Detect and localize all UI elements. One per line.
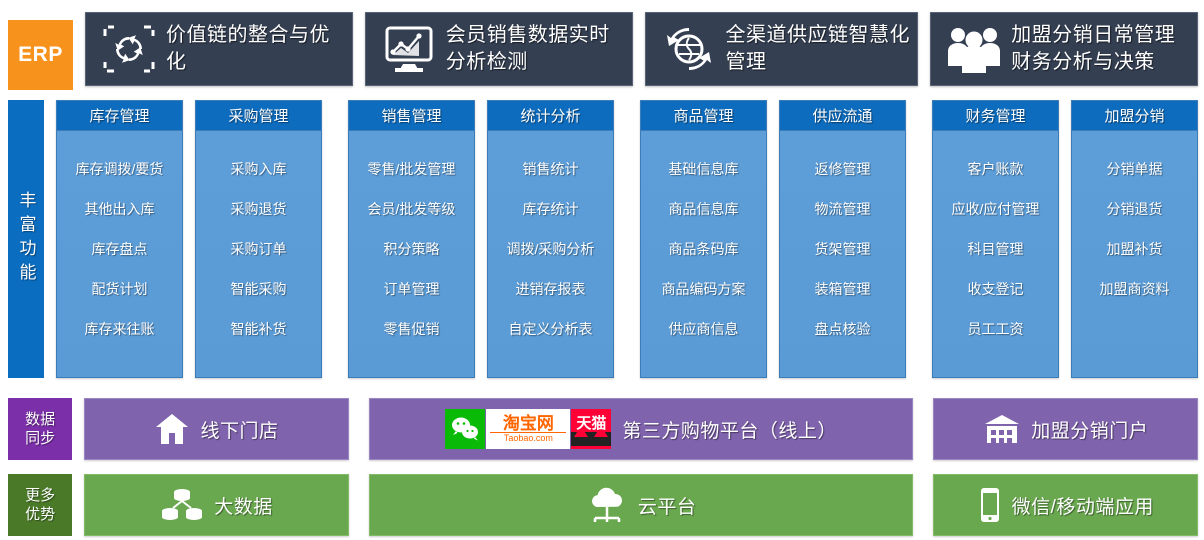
feature-column-statistics[interactable]: 统计分析 销售统计 库存统计 调拨/采购分析 进销存报表 自定义分析表 bbox=[487, 100, 614, 378]
feature-column-title: 供应流通 bbox=[780, 101, 905, 131]
feature-item[interactable]: 装箱管理 bbox=[815, 269, 871, 309]
feature-item[interactable]: 配货计划 bbox=[92, 269, 148, 309]
sync-bar-third-party-platforms[interactable]: 淘宝网 Taobao.com 天猫 第三方购物平台（线上） bbox=[369, 398, 914, 460]
feature-column-products[interactable]: 商品管理 基础信息库 商品信息库 商品条码库 商品编码方案 供应商信息 bbox=[640, 100, 767, 378]
features-side-label-text: 丰富功能 bbox=[14, 191, 39, 287]
advantages-tag-line2: 优势 bbox=[25, 505, 55, 524]
column-group-3: 商品管理 基础信息库 商品信息库 商品条码库 商品编码方案 供应商信息 供应流通… bbox=[634, 100, 912, 382]
feature-column-title: 采购管理 bbox=[196, 101, 321, 131]
sync-bar-offline-store[interactable]: 线下门店 bbox=[84, 398, 349, 460]
feature-item[interactable]: 返修管理 bbox=[815, 149, 871, 189]
feature-item[interactable]: 加盟商资料 bbox=[1100, 269, 1170, 309]
feature-item[interactable]: 分销退货 bbox=[1107, 189, 1163, 229]
feature-column-title: 销售管理 bbox=[349, 101, 474, 131]
header-card-title: 价值链的整合与优化 bbox=[166, 22, 352, 76]
feature-item[interactable]: 收支登记 bbox=[968, 269, 1024, 309]
column-group-1: 库存管理 库存调拨/要货 其他出入库 库存盘点 配货计划 库存来往账 采购管理 … bbox=[50, 100, 328, 382]
feature-item[interactable]: 进销存报表 bbox=[516, 269, 586, 309]
advantage-bar-label: 云平台 bbox=[638, 492, 697, 519]
advantage-bar-cloud-platform[interactable]: 云平台 bbox=[369, 474, 914, 536]
big-data-icon bbox=[160, 487, 204, 523]
feature-column-title: 商品管理 bbox=[641, 101, 766, 131]
advantages-row: 更多 优势 bbox=[0, 474, 1204, 536]
feature-column-items: 零售/批发管理 会员/批发等级 积分策略 订单管理 零售促销 bbox=[349, 131, 474, 377]
taobao-logo: 淘宝网 Taobao.com bbox=[486, 409, 570, 449]
feature-item[interactable]: 供应商信息 bbox=[669, 309, 739, 349]
people-group-icon bbox=[943, 21, 1005, 77]
platform-logos-icon: 淘宝网 Taobao.com 天猫 bbox=[445, 409, 612, 449]
franchise-building-icon bbox=[983, 413, 1021, 445]
advantage-bar-label: 微信/移动端应用 bbox=[1012, 492, 1154, 519]
feature-column-items: 返修管理 物流管理 货架管理 装箱管理 盘点核验 bbox=[780, 131, 905, 377]
feature-item[interactable]: 分销单据 bbox=[1107, 149, 1163, 189]
sync-bar-label: 第三方购物平台（线上） bbox=[622, 416, 837, 443]
data-sync-tag-line2: 同步 bbox=[25, 429, 55, 448]
feature-item[interactable]: 员工工资 bbox=[968, 309, 1024, 349]
features-row: 丰富功能 库存管理 库存调拨/要货 其他出入库 库存盘点 配货计划 库存来往账 … bbox=[0, 100, 1204, 382]
feature-item[interactable]: 加盟补货 bbox=[1107, 229, 1163, 269]
header-card-title: 加盟分销日常管理财务分析与决策 bbox=[1011, 22, 1197, 76]
feature-item[interactable]: 其他出入库 bbox=[85, 189, 155, 229]
feature-column-inventory[interactable]: 库存管理 库存调拨/要货 其他出入库 库存盘点 配货计划 库存来往账 bbox=[56, 100, 183, 378]
advantages-tag-line1: 更多 bbox=[25, 486, 55, 505]
feature-column-finance[interactable]: 财务管理 客户账款 应收/应付管理 科目管理 收支登记 员工工资 bbox=[932, 100, 1059, 378]
feature-column-items: 库存调拨/要货 其他出入库 库存盘点 配货计划 库存来往账 bbox=[57, 131, 182, 377]
erp-brand-label: ERP bbox=[18, 43, 63, 67]
monitor-chart-icon bbox=[378, 21, 440, 77]
feature-column-franchise[interactable]: 加盟分销 分销单据 分销退货 加盟补货 加盟商资料 bbox=[1071, 100, 1198, 378]
tmall-cat-ears-icon bbox=[571, 432, 611, 446]
feature-item[interactable]: 商品信息库 bbox=[669, 189, 739, 229]
feature-column-items: 销售统计 库存统计 调拨/采购分析 进销存报表 自定义分析表 bbox=[488, 131, 613, 377]
feature-item[interactable]: 零售促销 bbox=[384, 309, 440, 349]
erp-architecture-diagram: ERP 价值链的整合与优化 bbox=[0, 0, 1204, 540]
advantage-bar-big-data[interactable]: 大数据 bbox=[84, 474, 349, 536]
advantage-bar-label: 大数据 bbox=[214, 492, 273, 519]
header-card-franchise-finance[interactable]: 加盟分销日常管理财务分析与决策 bbox=[930, 12, 1198, 86]
mobile-phone-icon bbox=[978, 487, 1002, 523]
data-sync-tag: 数据 同步 bbox=[8, 398, 72, 460]
features-side-label: 丰富功能 bbox=[8, 100, 44, 378]
feature-column-title: 统计分析 bbox=[488, 101, 613, 131]
feature-item[interactable]: 货架管理 bbox=[815, 229, 871, 269]
column-group-4: 财务管理 客户账款 应收/应付管理 科目管理 收支登记 员工工资 加盟分销 分销… bbox=[926, 100, 1204, 382]
feature-item[interactable]: 库存统计 bbox=[523, 189, 579, 229]
feature-item[interactable]: 库存调拨/要货 bbox=[76, 149, 164, 189]
feature-column-title: 加盟分销 bbox=[1072, 101, 1197, 131]
header-card-value-chain[interactable]: 价值链的整合与优化 bbox=[85, 12, 353, 86]
sync-bar-franchise-portal[interactable]: 加盟分销门户 bbox=[933, 398, 1198, 460]
advantages-tag: 更多 优势 bbox=[8, 474, 72, 536]
feature-item[interactable]: 订单管理 bbox=[384, 269, 440, 309]
wechat-logo bbox=[445, 409, 485, 449]
feature-item[interactable]: 客户账款 bbox=[968, 149, 1024, 189]
feature-column-supply[interactable]: 供应流通 返修管理 物流管理 货架管理 装箱管理 盘点核验 bbox=[779, 100, 906, 378]
tmall-logo: 天猫 bbox=[571, 409, 611, 449]
feature-item[interactable]: 基础信息库 bbox=[669, 149, 739, 189]
header-card-sales-analytics[interactable]: 会员销售数据实时分析检测 bbox=[365, 12, 633, 86]
feature-item[interactable]: 科目管理 bbox=[968, 229, 1024, 269]
feature-item[interactable]: 自定义分析表 bbox=[509, 309, 593, 349]
feature-item[interactable]: 商品编码方案 bbox=[662, 269, 746, 309]
feature-item[interactable]: 会员/批发等级 bbox=[368, 189, 456, 229]
feature-column-sales[interactable]: 销售管理 零售/批发管理 会员/批发等级 积分策略 订单管理 零售促销 bbox=[348, 100, 475, 378]
feature-item[interactable]: 应收/应付管理 bbox=[952, 189, 1040, 229]
tmall-logo-cn: 天猫 bbox=[576, 413, 606, 432]
global-supply-icon bbox=[658, 21, 720, 77]
feature-item[interactable]: 积分策略 bbox=[384, 229, 440, 269]
sync-bar-label: 线下门店 bbox=[200, 416, 278, 443]
header-row: ERP 价值链的整合与优化 bbox=[0, 0, 1204, 94]
feature-column-items: 分销单据 分销退货 加盟补货 加盟商资料 bbox=[1072, 131, 1197, 377]
sync-bar-label: 加盟分销门户 bbox=[1031, 416, 1148, 443]
feature-item[interactable]: 智能采购 bbox=[231, 269, 287, 309]
header-card-title: 全渠道供应链智慧化管理 bbox=[726, 22, 918, 76]
feature-column-title: 库存管理 bbox=[57, 101, 182, 131]
feature-column-items: 采购入库 采购退货 采购订单 智能采购 智能补货 bbox=[196, 131, 321, 377]
advantage-bar-mobile-app[interactable]: 微信/移动端应用 bbox=[933, 474, 1198, 536]
feature-item[interactable]: 商品条码库 bbox=[669, 229, 739, 269]
column-group-2: 销售管理 零售/批发管理 会员/批发等级 积分策略 订单管理 零售促销 统计分析… bbox=[342, 100, 620, 382]
taobao-logo-cn: 淘宝网 bbox=[503, 415, 554, 432]
value-chain-icon bbox=[98, 21, 160, 77]
feature-item[interactable]: 智能补货 bbox=[231, 309, 287, 349]
feature-column-purchasing[interactable]: 采购管理 采购入库 采购退货 采购订单 智能采购 智能补货 bbox=[195, 100, 322, 378]
home-store-icon bbox=[154, 412, 190, 446]
feature-column-title: 财务管理 bbox=[933, 101, 1058, 131]
data-sync-tag-line1: 数据 bbox=[25, 410, 55, 429]
header-card-title: 会员销售数据实时分析检测 bbox=[446, 22, 632, 76]
feature-item[interactable]: 库存盘点 bbox=[92, 229, 148, 269]
data-sync-row: 数据 同步 线下门店 bbox=[0, 398, 1204, 460]
cloud-platform-icon bbox=[586, 487, 628, 523]
feature-column-items: 基础信息库 商品信息库 商品条码库 商品编码方案 供应商信息 bbox=[641, 131, 766, 377]
feature-column-items: 客户账款 应收/应付管理 科目管理 收支登记 员工工资 bbox=[933, 131, 1058, 377]
feature-item[interactable]: 库存来往账 bbox=[85, 309, 155, 349]
erp-brand-badge: ERP bbox=[8, 20, 73, 90]
taobao-logo-en: Taobao.com bbox=[490, 432, 566, 443]
feature-item[interactable]: 物流管理 bbox=[815, 189, 871, 229]
feature-item[interactable]: 采购入库 bbox=[231, 149, 287, 189]
feature-item[interactable]: 采购订单 bbox=[231, 229, 287, 269]
feature-item[interactable]: 零售/批发管理 bbox=[368, 149, 456, 189]
feature-item[interactable]: 盘点核验 bbox=[815, 309, 871, 349]
header-card-supply-chain[interactable]: 全渠道供应链智慧化管理 bbox=[645, 12, 919, 86]
feature-item[interactable]: 调拨/采购分析 bbox=[507, 229, 595, 269]
feature-item[interactable]: 销售统计 bbox=[523, 149, 579, 189]
feature-item[interactable]: 采购退货 bbox=[231, 189, 287, 229]
